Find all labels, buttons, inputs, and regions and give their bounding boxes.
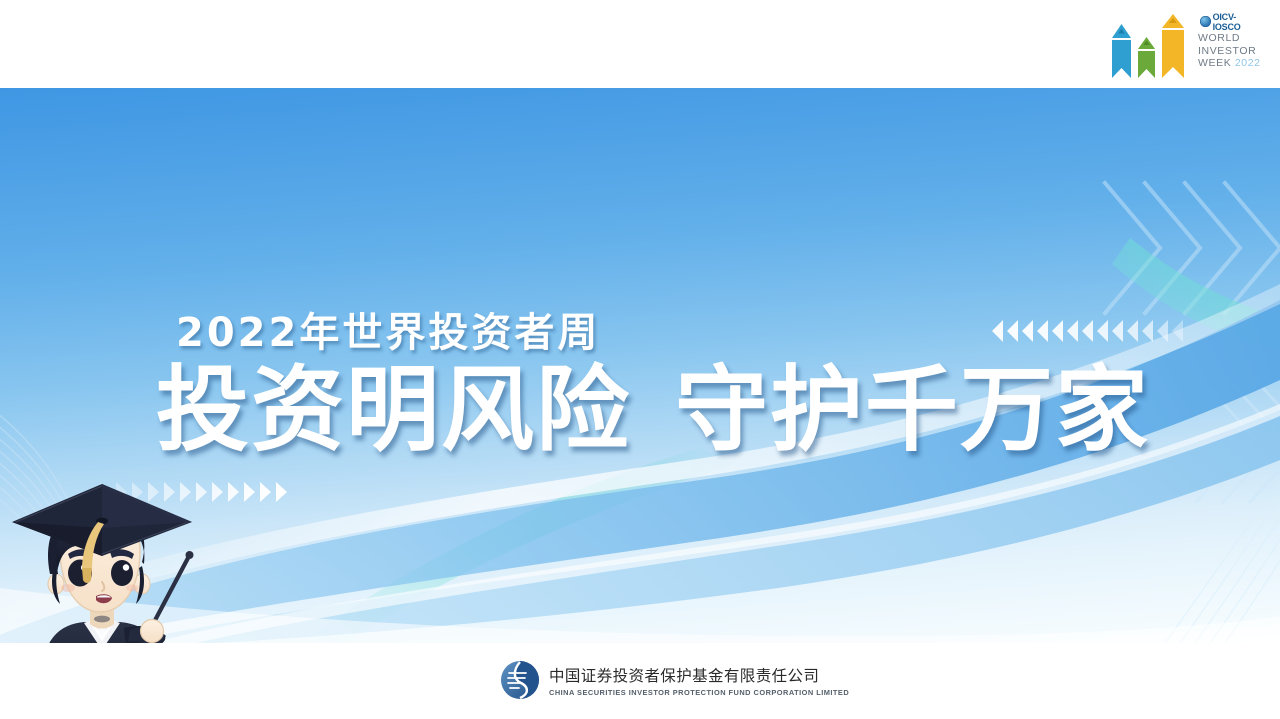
iosco-wordmark: OICV-IOSCO [1200,15,1262,28]
iosco-label: OICV-IOSCO [1213,12,1262,32]
chevron-right-icon [276,482,287,502]
csipf-mark-icon [500,660,540,700]
footer-bar: 中国证券投资者保护基金有限责任公司 CHINA SECURITIES INVES… [0,643,1280,719]
headline-right: 守护千万家 [675,356,1150,464]
chevron-right-icon [260,482,271,502]
poster-slide: OICV-IOSCO WORLD INVESTOR WEEK 2022 [0,0,1280,719]
chevron-right-icon [228,482,239,502]
chevron-left-icon [1052,320,1063,342]
wiw-line-2: INVESTOR [1198,45,1264,58]
wiw-line-3: WEEK 2022 [1198,57,1264,70]
chevron-left-icon [1127,320,1138,342]
wiw-line-1: WORLD [1198,32,1264,45]
chevron-left-icon [1112,320,1123,342]
csipf-text-block: 中国证券投资者保护基金有限责任公司 CHINA SECURITIES INVES… [549,664,849,697]
chevron-left-icon [1022,320,1033,342]
csipf-name-en: CHINA SECURITIES INVESTOR PROTECTION FUN… [549,688,849,697]
chevron-left-icon [1157,320,1168,342]
poster-kicker: 2022年世界投资者周 [176,300,600,358]
chevron-left-icon [1067,320,1078,342]
csipf-logo-lockup: 中国证券投资者保护基金有限责任公司 CHINA SECURITIES INVES… [500,660,849,700]
world-investor-week-logo: OICV-IOSCO WORLD INVESTOR WEEK 2022 [1104,4,1262,84]
chevron-left-icon [1037,320,1048,342]
eye-right [111,560,133,586]
chevron-right-icon [212,482,223,502]
pencil-chart-icon [1106,12,1198,82]
wiw-year: 2022 [1235,57,1261,69]
chevron-row-right [992,320,1183,342]
chevron-right-icon [244,482,255,502]
top-bar: OICV-IOSCO WORLD INVESTOR WEEK 2022 [0,0,1280,88]
headline-left: 投资明风险 [156,356,631,464]
pointer-stick [152,551,194,626]
hand [141,620,164,643]
globe-icon [1200,16,1211,27]
chevron-left-icon [992,320,1003,342]
wiw-week-word: WEEK [1198,57,1231,69]
chevron-left-icon [1007,320,1018,342]
chevron-left-icon [1172,320,1183,342]
csipf-name-cn: 中国证券投资者保护基金有限责任公司 [549,664,849,686]
chevron-left-icon [1082,320,1093,342]
chevron-left-icon [1142,320,1153,342]
chevron-left-icon [1097,320,1108,342]
poster-headline: 投资明风险守护千万家 [156,364,1150,457]
world-investor-week-label: WORLD INVESTOR WEEK 2022 [1198,32,1264,70]
